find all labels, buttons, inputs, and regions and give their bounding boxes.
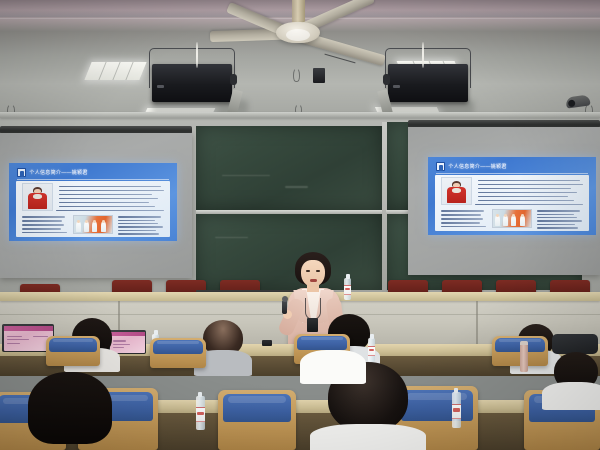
slide-left-title-group: 个人信息简介——姚颖君 — [17, 168, 87, 178]
stage-light-right — [388, 46, 468, 106]
chalkboard-tray-center — [196, 210, 382, 214]
slide-left: 个人信息简介——姚颖君 — [9, 163, 177, 241]
ceiling-fan-rod — [292, 0, 305, 24]
stage-light-left-knob — [230, 74, 237, 85]
handheld-microphone[interactable] — [282, 300, 287, 314]
chalkboard-center — [196, 126, 382, 210]
stage-light-left-cable — [196, 42, 198, 68]
attendee-white-shirt-right — [300, 330, 366, 382]
projection-screen-left: 个人信息简介——姚颖君 — [0, 133, 192, 278]
bag-on-desk — [552, 334, 598, 354]
id-badge-lanyard — [305, 298, 321, 320]
water-bottle-row-front-1 — [196, 396, 205, 430]
ceiling-hook-1 — [293, 68, 300, 82]
presenter-face — [301, 260, 325, 287]
attendee-long-hair-foreground — [18, 372, 120, 450]
wall-rail — [0, 112, 600, 118]
attendee-right-edge — [548, 352, 600, 402]
ceiling-light-panel-1 — [84, 62, 146, 80]
thermos-bottle — [520, 344, 528, 372]
slide-left-title: 个人信息简介——姚颖君 — [29, 169, 87, 176]
presenter-portrait-photo — [441, 177, 472, 205]
audience-seat-front-3[interactable] — [218, 390, 296, 450]
ceiling — [0, 0, 600, 120]
stage-light-left-body — [152, 64, 232, 102]
audience-seat-back-2[interactable] — [150, 338, 206, 368]
lecture-hall-photo: 个人信息简介——姚颖君 — [0, 0, 600, 450]
stage-light-left — [152, 46, 232, 106]
slide-right-card — [435, 175, 590, 231]
slide-right-title-rule — [436, 173, 587, 174]
person-info-icon — [436, 162, 445, 171]
presenter-portrait-photo — [22, 183, 53, 211]
water-bottle-row-front-2 — [452, 392, 461, 428]
slide-left-title-rule — [17, 179, 168, 180]
phone-on-desk — [262, 340, 272, 346]
ceiling-fan-hub — [276, 22, 320, 43]
ceiling-junction-box — [313, 68, 325, 83]
audience-seat-back-1[interactable] — [46, 336, 100, 366]
nurses-group-photo — [492, 209, 532, 229]
projection-screen-right: 个人信息简介——姚颖君 — [408, 127, 600, 275]
slide-left-card — [16, 181, 171, 237]
slide-right-title-group: 个人信息简介——姚颖君 — [436, 162, 506, 172]
stage-light-right-cable — [422, 42, 424, 68]
stage-light-right-body — [388, 64, 468, 102]
chalkboard-divider-vertical — [382, 122, 387, 292]
water-bottle-row-back-2 — [368, 338, 375, 362]
person-info-icon — [17, 168, 26, 177]
nurses-group-photo — [73, 215, 113, 235]
slide-right-title: 个人信息简介——姚颖君 — [448, 163, 506, 170]
slide-right: 个人信息简介——姚颖君 — [428, 157, 596, 235]
stage-light-right-knob — [383, 74, 390, 85]
